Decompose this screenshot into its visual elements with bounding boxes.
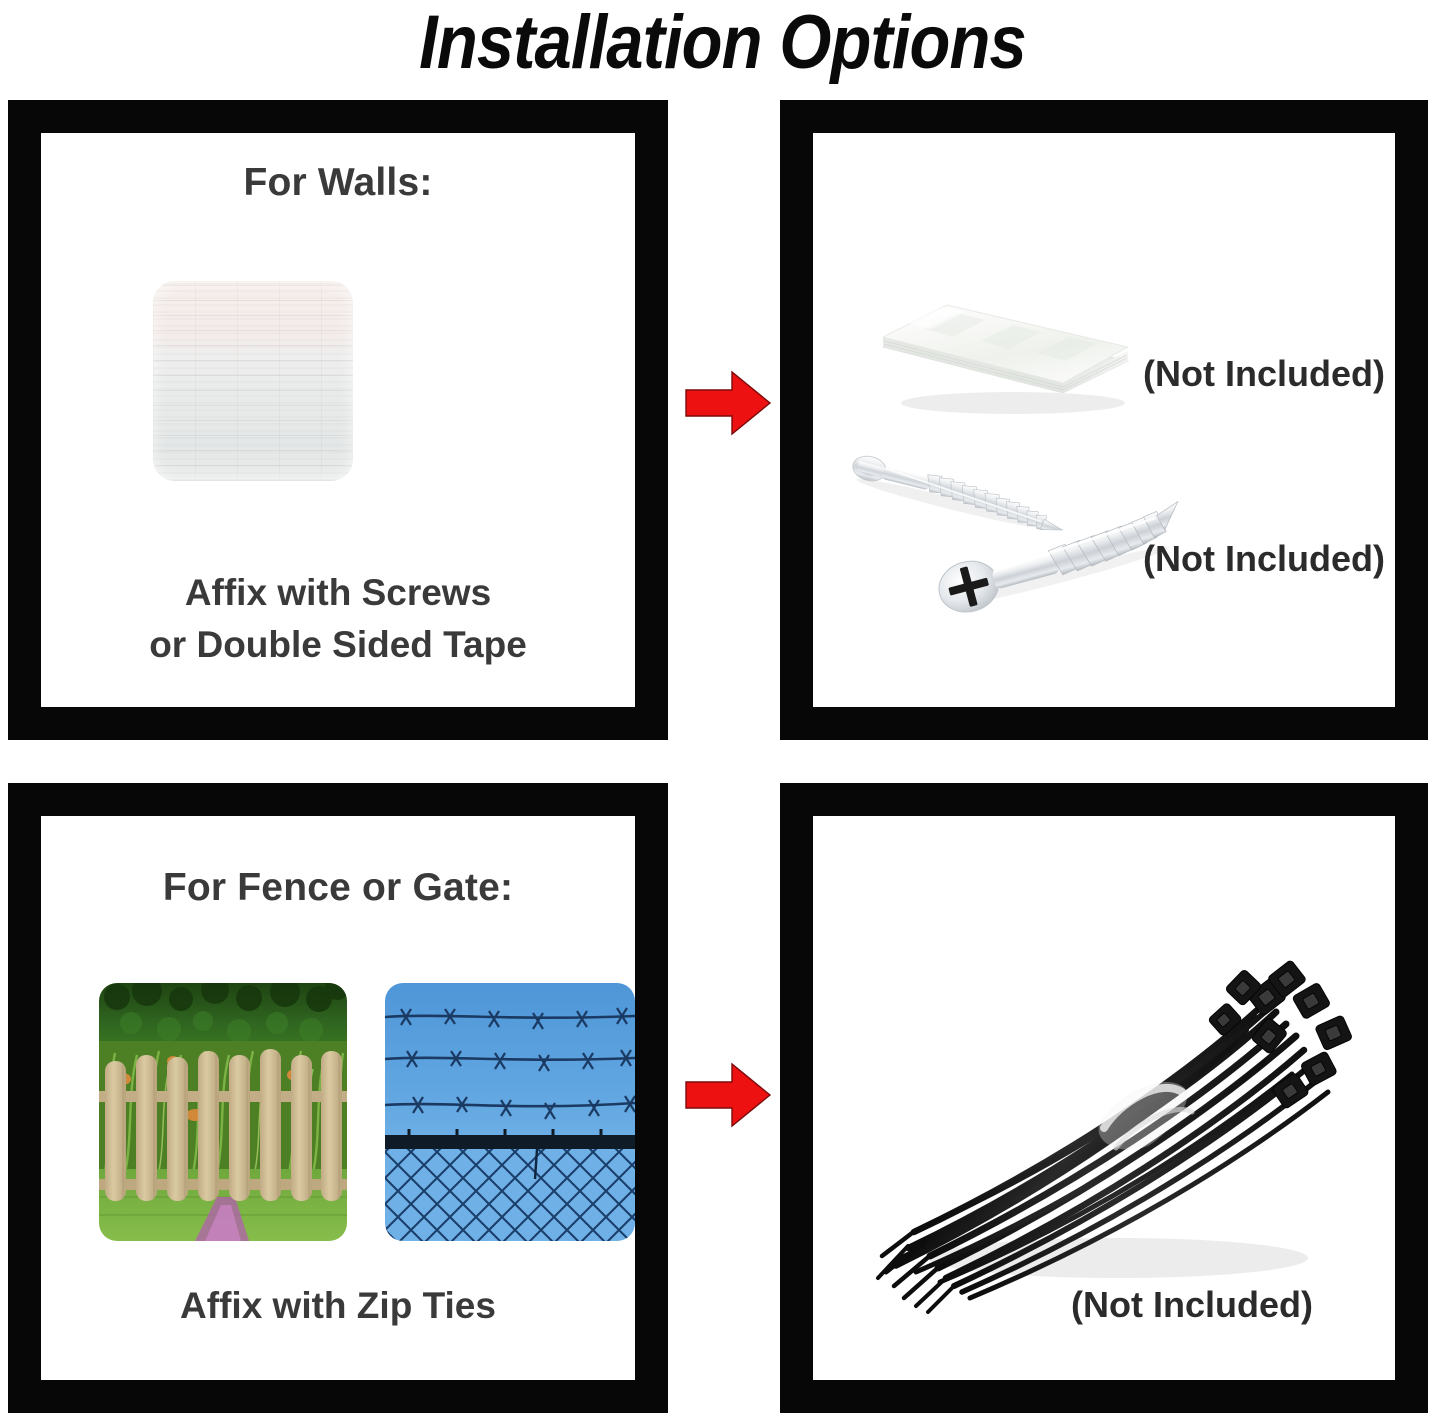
walls-heading: For Walls: [41, 161, 635, 205]
panel-for-walls: For Walls: Affix with Screws or Double S… [8, 100, 668, 740]
page-title: Installation Options [87, 0, 1359, 88]
installation-options-infographic: Installation Options For Walls: Affix wi… [0, 0, 1445, 1422]
panel-for-walls-content: For Walls: Affix with Screws or Double S… [41, 133, 635, 707]
panel-zip-ties-content: (Not Included) [813, 816, 1395, 1380]
barbed-wire-chain-link-fence-photo [385, 983, 635, 1241]
screws-not-included-label: (Not Included) [1143, 538, 1385, 580]
panel-for-fence-or-gate: For Fence or Gate: [8, 783, 668, 1413]
tape-not-included-label: (Not Included) [1143, 353, 1385, 395]
wooden-picket-fence-photo [99, 983, 347, 1241]
zip-ties-not-included-label: (Not Included) [1071, 1284, 1313, 1326]
panel-wall-hardware-content: (Not Included) [813, 133, 1395, 707]
walls-caption-line-2: or Double Sided Tape [41, 619, 635, 671]
fence-caption: Affix with Zip Ties [41, 1280, 635, 1332]
panel-zip-ties: (Not Included) [780, 783, 1428, 1413]
red-right-arrow [686, 370, 770, 436]
panel-wall-hardware: (Not Included) [780, 100, 1428, 740]
red-right-arrow-lower [686, 1062, 770, 1128]
white-brick-wall-swatch [153, 281, 353, 481]
walls-caption-line-1: Affix with Screws [41, 567, 635, 619]
black-zip-tie-bundle [868, 926, 1368, 1316]
double-sided-tape-stack [873, 243, 1141, 418]
fence-heading: For Fence or Gate: [41, 866, 635, 910]
walls-caption: Affix with Screws or Double Sided Tape [41, 567, 635, 671]
panel-for-fence-content: For Fence or Gate: [41, 816, 635, 1380]
